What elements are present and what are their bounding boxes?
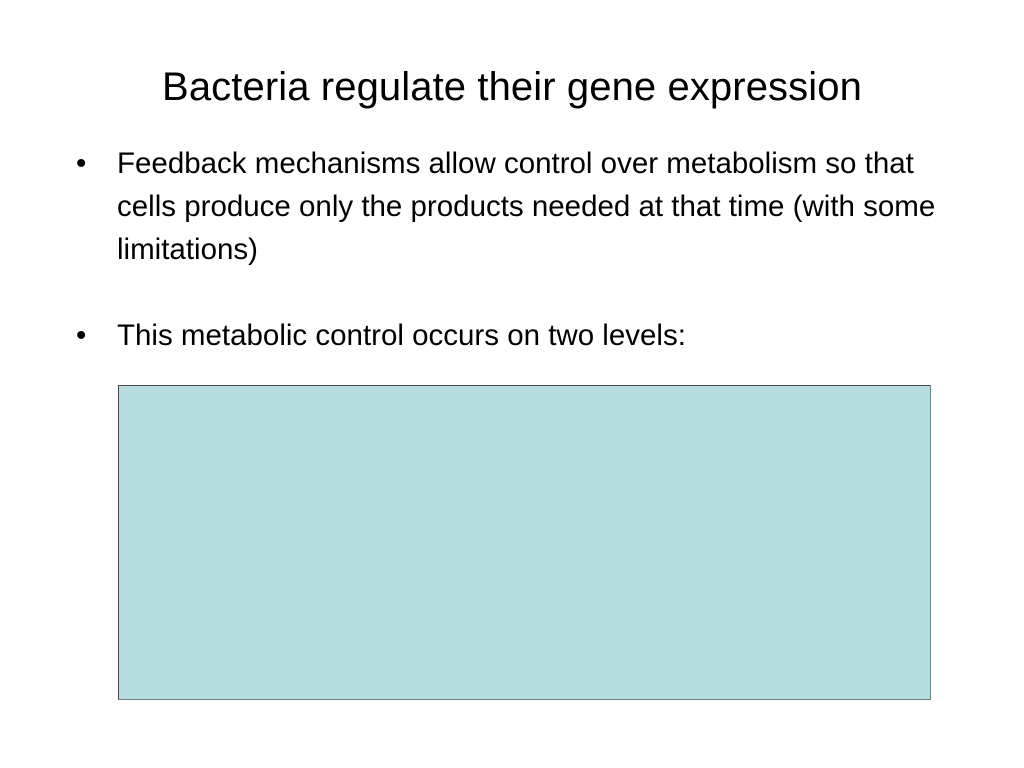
bullet-dot-icon: •	[76, 142, 96, 185]
list-item-text: Feedback mechanisms allow control over m…	[117, 142, 941, 271]
list-item: • This metabolic control occurs on two l…	[72, 314, 952, 357]
list-item-text: This metabolic control occurs on two lev…	[117, 314, 952, 357]
presentation-slide: Bacteria regulate their gene expression …	[0, 0, 1024, 768]
content-placeholder-box	[118, 385, 931, 700]
bullet-list: • Feedback mechanisms allow control over…	[72, 142, 952, 357]
page-title: Bacteria regulate their gene expression	[0, 61, 1024, 113]
bullet-dot-icon: •	[76, 314, 96, 357]
list-item: • Feedback mechanisms allow control over…	[72, 142, 952, 271]
